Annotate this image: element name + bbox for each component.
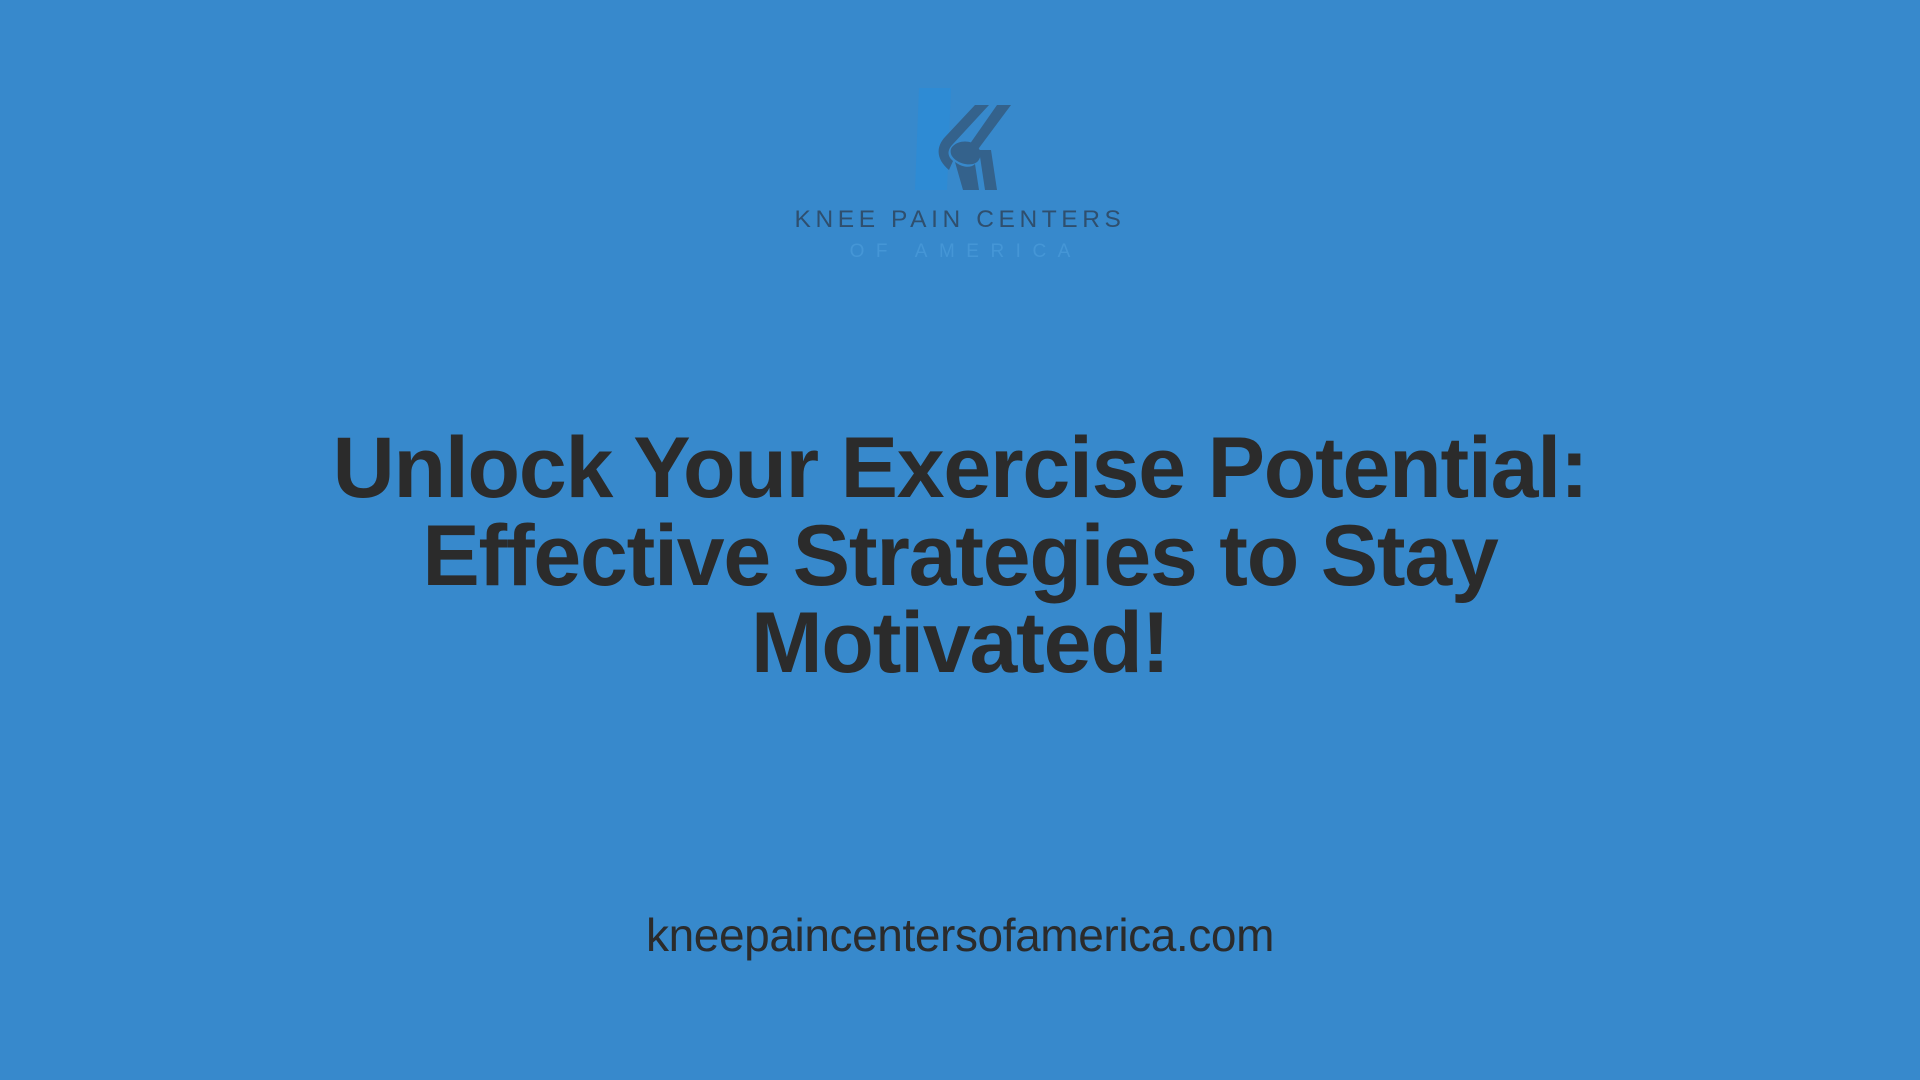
logo-company-subtitle: OF AMERICA	[838, 242, 1082, 261]
website-url[interactable]: kneepaincentersofamerica.com	[646, 908, 1274, 962]
page-title: Unlock Your Exercise Potential: Effectiv…	[180, 425, 1740, 688]
headline-line-1: Unlock Your Exercise Potential:	[180, 425, 1740, 513]
headline-line-2: Effective Strategies to Stay	[180, 513, 1740, 601]
headline-line-3: Motivated!	[180, 600, 1740, 688]
logo-company-name: KNEE PAIN CENTERS	[795, 208, 1126, 233]
knee-joint-k-logo-icon	[901, 78, 1019, 198]
promo-slide: KNEE PAIN CENTERS OF AMERICA Unlock Your…	[0, 0, 1920, 1080]
brand-logo: KNEE PAIN CENTERS OF AMERICA	[750, 78, 1170, 261]
logo-wordmark: KNEE PAIN CENTERS OF AMERICA	[795, 208, 1126, 261]
